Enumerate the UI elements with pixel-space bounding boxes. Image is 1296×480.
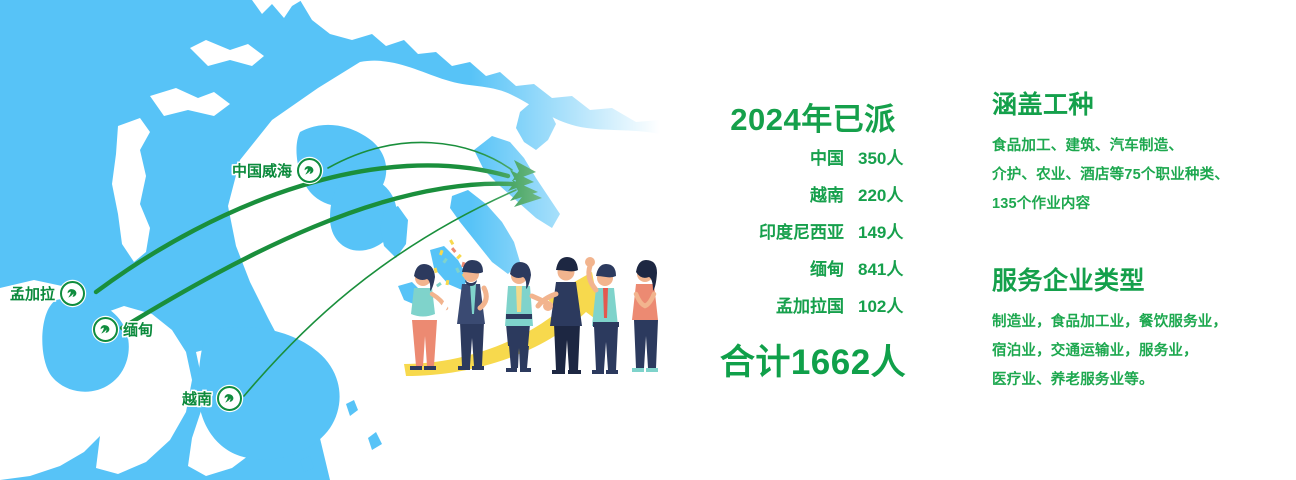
business-people-growth-arrow-illustration [396, 228, 664, 393]
map-label-china-weihai[interactable]: 中国威海 [232, 158, 322, 183]
stat-count-value: 102人 [844, 292, 978, 317]
stat-row: 中国 350人 [648, 144, 978, 181]
stat-count-value: 149人 [844, 218, 978, 243]
stat-country-label: 缅甸 [648, 255, 844, 280]
location-pin-icon [217, 386, 242, 411]
map-label-text: 缅甸 [123, 319, 153, 340]
stat-country-label: 越南 [648, 181, 844, 206]
stat-count-value: 350人 [844, 144, 978, 169]
stat-country-label: 印度尼西亚 [648, 218, 844, 243]
map-label-vietnam[interactable]: 越南 [182, 386, 242, 411]
stat-row: 孟加拉国 102人 [648, 292, 978, 329]
stat-country-label: 孟加拉国 [648, 292, 844, 317]
info-line: 介护、农业、酒店等75个职业种类、 [992, 161, 1296, 190]
illustration-graphic [396, 228, 664, 393]
person-1 [410, 264, 450, 370]
info-line: 135个作业内容 [992, 190, 1296, 219]
stat-row: 缅甸 841人 [648, 255, 978, 292]
stat-row: 印度尼西亚 149人 [648, 218, 978, 255]
person-3 [505, 262, 552, 372]
person-4 [538, 257, 582, 374]
stat-row: 越南 220人 [648, 181, 978, 218]
infographic-root: 中国威海 孟加拉 缅甸 越南 [0, 0, 1296, 480]
person-2 [457, 260, 486, 370]
map-label-text: 越南 [182, 388, 212, 409]
info-panel: 涵盖工种 食品加工、建筑、汽车制造、 介护、农业、酒店等75个职业种类、 135… [992, 0, 1296, 480]
info-line: 食品加工、建筑、汽车制造、 [992, 132, 1296, 161]
person-5 [585, 257, 619, 374]
info-block-service-enterprise-types: 服务企业类型 制造业，食品加工业，餐饮服务业， 宿泊业，交通运输业，服务业， 医… [992, 268, 1296, 395]
stats-list: 中国 350人 越南 220人 印度尼西亚 149人 缅甸 841人 孟加拉国 … [648, 144, 978, 329]
info-block-covered-occupations: 涵盖工种 食品加工、建筑、汽车制造、 介护、农业、酒店等75个职业种类、 135… [992, 92, 1296, 219]
location-pin-icon [93, 317, 118, 342]
map-label-text: 中国威海 [232, 160, 292, 181]
info-line: 制造业，食品加工业，餐饮服务业， [992, 308, 1296, 337]
dispatch-stats-panel: 2024年已派 中国 350人 越南 220人 印度尼西亚 149人 缅甸 84… [648, 0, 978, 480]
info-line: 宿泊业，交通运输业，服务业， [992, 337, 1296, 366]
stat-count-value: 841人 [844, 255, 978, 280]
location-pin-icon [297, 158, 322, 183]
stats-total: 合计1662人 [648, 334, 978, 385]
stat-count-value: 220人 [844, 181, 978, 206]
info-heading: 涵盖工种 [992, 92, 1296, 120]
location-pin-icon [60, 281, 85, 306]
info-heading: 服务企业类型 [992, 268, 1296, 296]
stat-country-label: 中国 [648, 144, 844, 169]
info-line: 医疗业、养老服务业等。 [992, 366, 1296, 395]
map-label-myanmar[interactable]: 缅甸 [93, 317, 153, 342]
map-label-text: 孟加拉 [10, 283, 55, 304]
map-label-bangladesh[interactable]: 孟加拉 [10, 281, 85, 306]
stats-title: 2024年已派 [648, 94, 978, 139]
